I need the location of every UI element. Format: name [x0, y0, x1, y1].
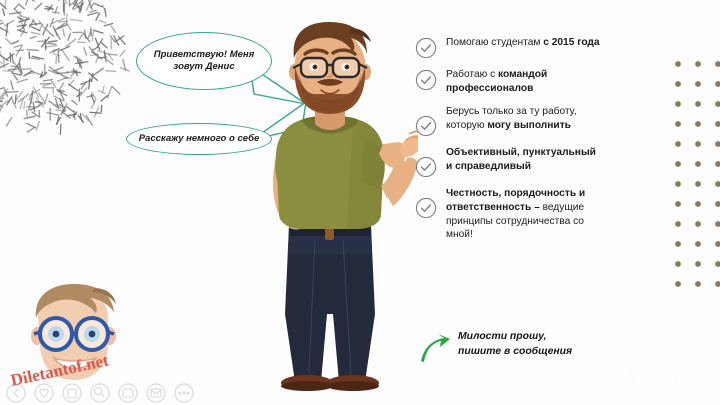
cta-text: Милости прошу, пишите в сообщения: [458, 330, 572, 360]
dot-grid-pattern: [668, 58, 720, 293]
search-icon: [91, 384, 109, 402]
cta-line-2: пишите в сообщения: [458, 346, 572, 357]
chat-icon: [119, 384, 137, 402]
check-circle-icon: [415, 69, 437, 91]
list-item: Помогаю студентам с 2015 года: [415, 36, 600, 59]
list-item-text: Честность, порядочность и ответственност…: [446, 187, 600, 243]
intro-bubble-text: Расскажу немного о себе: [139, 133, 260, 145]
cta-line-1: Милости прошу,: [458, 331, 546, 342]
mail-icon: [147, 384, 165, 402]
check-circle-icon: [415, 197, 437, 219]
check-circle-icon: [415, 115, 437, 137]
list-item-text: Берусь только за ту работу, которую могу…: [446, 105, 600, 133]
list-item: Берусь только за ту работу, которую могу…: [415, 105, 600, 137]
heart-icon: [35, 384, 53, 402]
list-item-text: Работаю с командой профессионалов: [446, 68, 600, 96]
dash-texture-cluster: [0, 0, 135, 135]
avito-logo-icon: Avito: [603, 362, 711, 392]
bearded-man-illustration: [243, 14, 418, 392]
promo-canvas: Приветствую! Меня зовут Денис Расскажу н…: [0, 0, 720, 405]
list-item: Объективный, пунктуальный и справедливый: [415, 146, 600, 178]
list-item: Работаю с командой профессионалов: [415, 68, 600, 96]
avito-wordmark: Avito: [635, 368, 682, 389]
bullet-2-part-1: Работаю с: [446, 69, 498, 80]
check-circle-icon: [415, 156, 437, 178]
list-item-text: Объективный, пунктуальный и справедливый: [446, 146, 600, 174]
list-item-text: Помогаю студентам с 2015 года: [446, 36, 600, 50]
more-icon: [175, 384, 193, 402]
greeting-bubble-text: Приветствую! Меня зовут Денис: [150, 49, 258, 73]
curved-arrow-icon: [418, 332, 452, 364]
check-circle-icon: [415, 37, 437, 59]
toolbar-icon-row[interactable]: [4, 383, 194, 403]
cta-block: Милости прошу, пишите в сообщения: [418, 330, 608, 364]
bullet-1-part-2: с 2015 года: [543, 37, 599, 48]
list-item: Честность, порядочность и ответственност…: [415, 187, 600, 243]
back-icon: [7, 384, 25, 402]
bullet-3-part-2: могу выполнить: [487, 120, 571, 131]
bullet-4-part-1: Объективный, пунктуальный и справедливый: [446, 147, 596, 172]
bullet-1-part-1: Помогаю студентам: [446, 37, 543, 48]
benefits-list: Помогаю студентам с 2015 года Работаю с …: [415, 36, 600, 251]
copy-icon: [63, 384, 81, 402]
